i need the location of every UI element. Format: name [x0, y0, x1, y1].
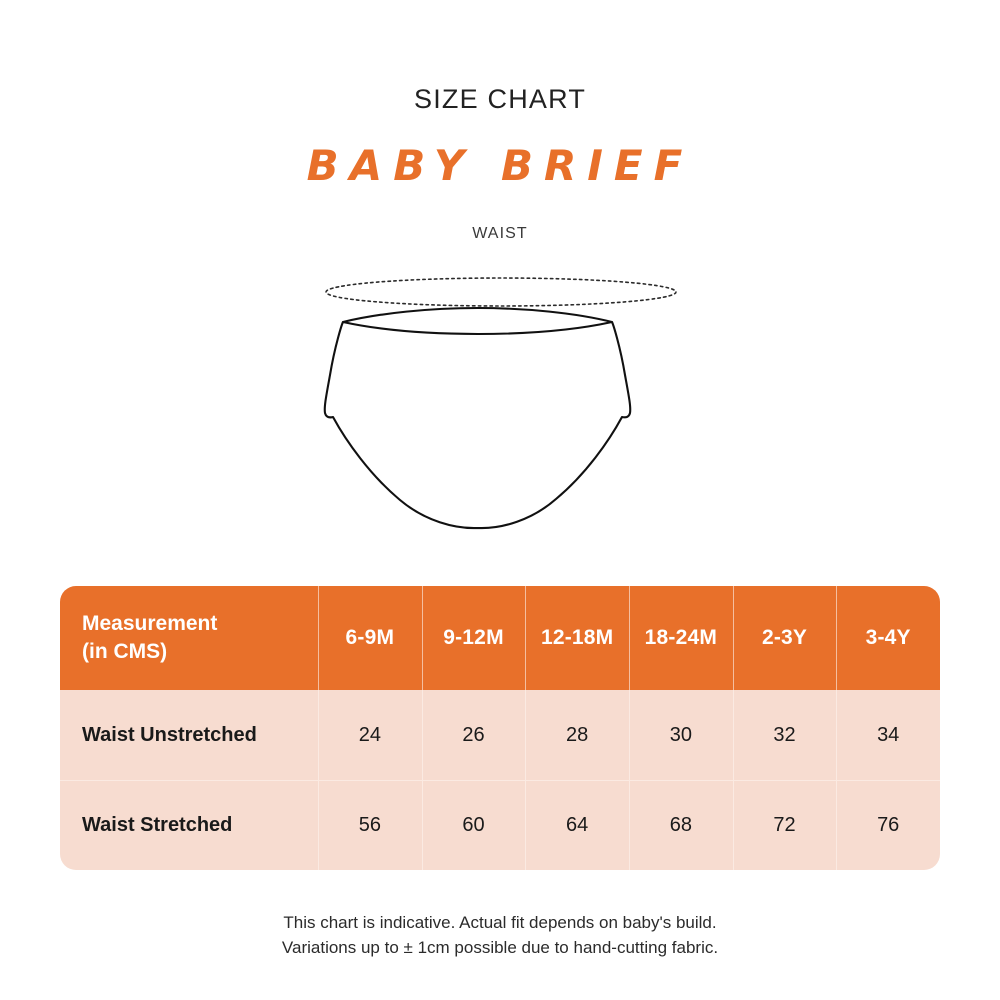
brief-outline: [325, 322, 631, 528]
data-cell: 26: [422, 690, 526, 780]
header-cell-size-1: 9-12M: [422, 586, 526, 690]
header-size-label: 9-12M: [443, 626, 504, 650]
header-cell-size-4: 2-3Y: [733, 586, 837, 690]
size-chart-table: Measurement (in CMS) 6-9M 9-12M 12-18M 1…: [60, 586, 940, 870]
brief-diagram: [250, 225, 750, 545]
header-cell-measurement: Measurement (in CMS): [60, 586, 318, 690]
cell-value: 24: [359, 724, 381, 747]
row-label-cell: Waist Stretched: [60, 780, 318, 870]
header-cell-size-3: 18-24M: [629, 586, 733, 690]
product-title: BABY BRIEF: [0, 143, 1000, 189]
data-cell: 60: [422, 780, 526, 870]
cell-value: 28: [566, 724, 588, 747]
cell-value: 26: [462, 724, 484, 747]
header-size-label: 3-4Y: [866, 626, 911, 650]
cell-value: 72: [773, 814, 795, 837]
cell-value: 56: [359, 814, 381, 837]
garment-illustration: WAIST: [250, 225, 750, 545]
data-cell: 34: [836, 690, 940, 780]
data-cell: 72: [733, 780, 837, 870]
cell-value: 64: [566, 814, 588, 837]
page-title: SIZE CHART: [0, 86, 1000, 113]
data-cell: 64: [525, 780, 629, 870]
cell-value: 30: [670, 724, 692, 747]
data-cell: 68: [629, 780, 733, 870]
cell-value: 68: [670, 814, 692, 837]
data-cell: 32: [733, 690, 837, 780]
cell-value: 76: [877, 814, 899, 837]
data-cell: 30: [629, 690, 733, 780]
footnote-line-1: This chart is indicative. Actual fit dep…: [0, 910, 1000, 935]
waistband-edge: [343, 308, 612, 322]
row-label: Waist Unstretched: [82, 724, 257, 747]
header-size-label: 12-18M: [541, 626, 613, 650]
header-cell-size-5: 3-4Y: [836, 586, 940, 690]
row-label: Waist Stretched: [82, 814, 232, 837]
waist-measure-ellipse: [326, 278, 676, 306]
table-row: Waist Unstretched 24 26 28 30 32 34: [60, 690, 940, 780]
data-cell: 76: [836, 780, 940, 870]
cell-value: 60: [462, 814, 484, 837]
row-label-cell: Waist Unstretched: [60, 690, 318, 780]
data-cell: 24: [318, 690, 422, 780]
header-measurement-line2: (in CMS): [82, 638, 217, 666]
header-size-label: 2-3Y: [762, 626, 807, 650]
footnote-line-2: Variations up to ± 1cm possible due to h…: [0, 935, 1000, 960]
header-size-label: 18-24M: [645, 626, 717, 650]
footnote: This chart is indicative. Actual fit dep…: [0, 910, 1000, 960]
header-cell-size-2: 12-18M: [525, 586, 629, 690]
cell-value: 32: [773, 724, 795, 747]
data-cell: 28: [525, 690, 629, 780]
data-cell: 56: [318, 780, 422, 870]
table-header-row: Measurement (in CMS) 6-9M 9-12M 12-18M 1…: [60, 586, 940, 690]
header-measurement-line1: Measurement: [82, 610, 217, 638]
cell-value: 34: [877, 724, 899, 747]
header-size-label: 6-9M: [346, 626, 395, 650]
table-row: Waist Stretched 56 60 64 68 72 76: [60, 780, 940, 870]
header-cell-size-0: 6-9M: [318, 586, 422, 690]
